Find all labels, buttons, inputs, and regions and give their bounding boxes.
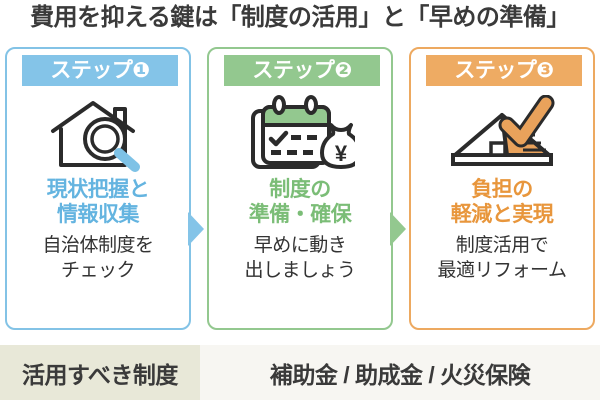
bottom-bar-label-cell: 活用すべき制度: [0, 345, 200, 400]
step-1-body: 自治体制度を チェック: [9, 233, 187, 283]
step-1-heading-line2: 情報収集: [57, 203, 139, 226]
step-1-header: ステップ❶: [22, 55, 178, 86]
step-2-heading-line1: 制度の: [269, 178, 331, 201]
step-3-body: 制度活用で 最適リフォーム: [413, 233, 591, 283]
house-check-icon: [411, 91, 593, 179]
arrow-step1-to-step2-icon: [188, 212, 204, 246]
svg-text:¥: ¥: [335, 141, 348, 166]
step-2-body-line1: 早めに動き: [211, 233, 389, 258]
bottom-bar-value: 補助金 / 助成金 / 火災保険: [270, 356, 530, 390]
step-card-2: ステップ❷ ¥ 制度の: [207, 47, 393, 330]
step-3-heading-line1: 負担の: [471, 178, 533, 201]
step-2-header: ステップ❷: [224, 55, 380, 86]
step-2-body: 早めに動き 出しましょう: [211, 233, 389, 283]
step-2-body-line2: 出しましょう: [211, 258, 389, 283]
bottom-bar-label: 活用すべき制度: [22, 356, 178, 390]
step-1-body-line2: チェック: [9, 258, 187, 283]
step-card-3: ステップ❸ 負担の 軽減と実現 制度活用で 最適リフォーム: [409, 47, 595, 330]
step-1-body-line1: 自治体制度を: [9, 233, 187, 258]
step-2-heading: 制度の 準備・確保: [213, 177, 387, 227]
bottom-bar-value-cell: 補助金 / 助成金 / 火災保険: [200, 345, 600, 400]
step-2-heading-line2: 準備・確保: [249, 203, 352, 226]
step-3-heading-line2: 軽減と実現: [451, 203, 554, 226]
step-3-header: ステップ❸: [426, 55, 582, 86]
step-1-heading-line1: 現状把握と: [47, 178, 150, 201]
step-card-1: ステップ❶ 現状把握と 情報収集: [5, 47, 191, 330]
steps-container: ステップ❶ 現状把握と 情報収集: [0, 47, 600, 335]
step-3-heading: 負担の 軽減と実現: [415, 177, 589, 227]
house-magnifier-icon: [7, 91, 189, 179]
page-title: 費用を抑える鍵は「制度の活用」と「早めの準備」: [0, 2, 600, 34]
arrow-step2-to-step3-icon: [390, 212, 406, 246]
step-1-heading: 現状把握と 情報収集: [11, 177, 185, 227]
calendar-money-bag-icon: ¥: [209, 91, 391, 179]
step-3-body-line2: 最適リフォーム: [413, 258, 591, 283]
bottom-bar: 活用すべき制度 補助金 / 助成金 / 火災保険: [0, 345, 600, 400]
step-3-body-line1: 制度活用で: [413, 233, 591, 258]
infographic-page: 費用を抑える鍵は「制度の活用」と「早めの準備」 ステップ❶: [0, 0, 600, 400]
